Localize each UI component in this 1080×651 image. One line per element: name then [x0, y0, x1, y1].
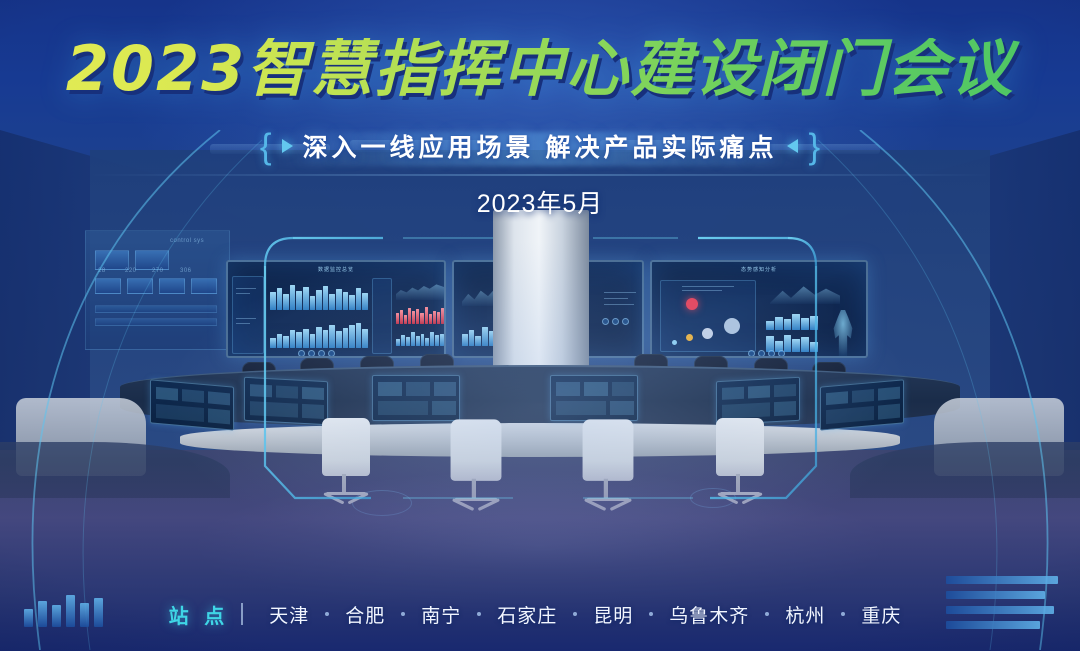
- site-city-chongqing[interactable]: 重庆: [851, 601, 911, 628]
- city-dot: [841, 612, 845, 616]
- city-dot: [649, 612, 653, 616]
- decor-lines-right: [946, 576, 1058, 629]
- site-city-shijiazhuang[interactable]: 石家庄: [487, 601, 567, 628]
- left-bracket-icon: {: [260, 129, 272, 164]
- page-title: 2023智慧指挥中心建设闭门会议: [0, 38, 1080, 100]
- site-city-hefei[interactable]: 合肥: [335, 601, 395, 628]
- event-date: 2023年5月: [0, 184, 1080, 220]
- subtitle-text: 深入一线应用场景 解决产品实际痛点: [303, 128, 778, 164]
- city-dot: [401, 612, 405, 616]
- triangle-right-icon: [282, 139, 293, 153]
- triangle-left-icon: [787, 139, 798, 153]
- site-city-urumqi[interactable]: 乌鲁木齐: [659, 601, 759, 628]
- city-dot: [325, 612, 329, 616]
- footer-sites-bar: 站 点 天津 合肥 南宁 石家庄 昆明 乌鲁木齐 杭州 重庆: [0, 577, 1080, 651]
- conference-poster: control sys 28 220 270 306 数据监控总览: [0, 0, 1080, 651]
- site-city-kunming[interactable]: 昆明: [583, 601, 643, 628]
- site-city-tianjin[interactable]: 天津: [259, 601, 319, 628]
- sites-list: 站 点 天津 合肥 南宁 石家庄 昆明 乌鲁木齐 杭州 重庆: [169, 600, 912, 629]
- sites-label: 站 点: [169, 600, 230, 629]
- city-dot: [765, 612, 769, 616]
- sites-divider: [241, 603, 243, 625]
- city-dot: [477, 612, 481, 616]
- site-city-nanning[interactable]: 南宁: [411, 601, 471, 628]
- site-city-hangzhou[interactable]: 杭州: [775, 601, 835, 628]
- city-dot: [573, 612, 577, 616]
- right-bracket-icon: }: [808, 129, 820, 164]
- subtitle-row: { 深入一线应用场景 解决产品实际痛点 }: [0, 128, 1080, 164]
